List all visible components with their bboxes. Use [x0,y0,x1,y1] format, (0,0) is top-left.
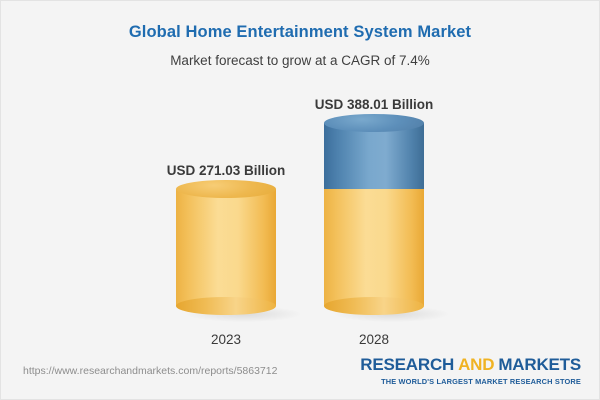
value-label-2023: USD 271.03 Billion [116,163,336,178]
bar-segment-growth-2028 [324,123,424,189]
cylinder-top-cap [324,114,424,132]
value-label-2028: USD 388.01 Billion [264,97,484,112]
logo-word-markets: MARKETS [498,355,581,374]
footer: https://www.researchandmarkets.com/repor… [1,347,599,399]
category-label-2023: 2023 [151,332,301,347]
brand-logo[interactable]: RESEARCHANDMARKETS THE WORLD'S LARGEST M… [360,355,581,386]
bar-segment-base-2028 [324,189,424,306]
logo-wordmark: RESEARCHANDMARKETS [360,355,581,375]
chart-card: Global Home Entertainment System Market … [0,0,600,400]
logo-tagline: THE WORLD'S LARGEST MARKET RESEARCH STOR… [360,377,581,386]
cylinder-top-cap [176,180,276,198]
source-url[interactable]: https://www.researchandmarkets.com/repor… [23,365,277,377]
cylinder-bottom-cap [176,297,276,315]
cylinder-bottom-cap [324,297,424,315]
bar-segment-base-2023 [176,189,276,306]
plot-area: USD 271.03 Billion 2023 USD 388.01 Billi… [1,1,600,349]
cylinder-body [176,189,276,306]
cylinder-body [324,189,424,306]
category-label-2028: 2028 [299,332,449,347]
cylinder-body [324,123,424,189]
logo-word-and: AND [454,355,498,374]
logo-word-research: RESEARCH [360,355,454,374]
